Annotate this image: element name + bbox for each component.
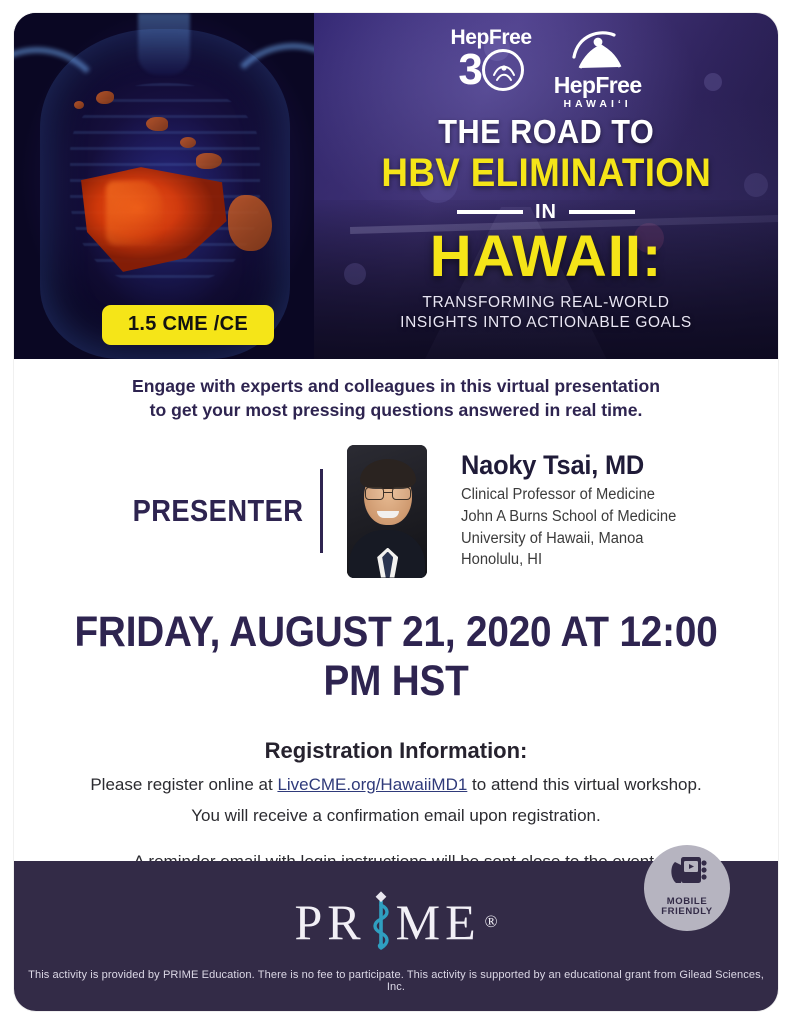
- logo-row: HepFree 3: [450, 27, 641, 111]
- title-connector-row: IN: [367, 201, 726, 224]
- hero-title-block: THE ROAD TO HBV ELIMINATION IN HAWAII: T…: [367, 115, 726, 333]
- presenter-section: PRESENTER Naoky Tsai, MD Clin: [14, 445, 778, 578]
- title-rule-left: [457, 210, 523, 214]
- title-line-hbv-elimination: HBV ELIMINATION: [381, 152, 711, 194]
- hepfree-hawaii-wordmark: HepFree: [554, 74, 642, 97]
- registered-trademark-symbol: ®: [485, 912, 498, 932]
- presenter-headshot: [347, 445, 427, 578]
- subtitle-line-2: INSIGHTS INTO ACTIONABLE GOALS: [367, 313, 726, 333]
- cme-credit-badge: 1.5 CME /CE: [102, 305, 274, 345]
- affiliation-line: John A Burns School of Medicine: [461, 506, 676, 528]
- glasses-lens-right: [392, 487, 411, 500]
- hepfree30-logo: HepFree 3: [450, 27, 531, 91]
- title-connector-in: IN: [535, 201, 557, 224]
- hepfree-hawaii-subtext: HAWAIʻI: [563, 98, 631, 110]
- registration-link[interactable]: LiveCME.org/HawaiiMD1: [277, 775, 467, 794]
- registration-line-1: Please register online at LiveCME.org/Ha…: [14, 775, 778, 795]
- registration-line-2: You will receive a confirmation email up…: [14, 806, 778, 826]
- main-content: Engage with experts and colleagues in th…: [14, 359, 778, 861]
- person-figure-icon: [482, 49, 524, 91]
- presenter-name: Naoky Tsai, MD: [461, 451, 674, 479]
- event-flyer: 1.5 CME /CE HepFree 3: [14, 13, 778, 1011]
- presenter-affiliation: Clinical Professor of Medicine John A Bu…: [461, 484, 676, 571]
- hero-content: HepFree 3: [314, 13, 778, 359]
- engage-callout: Engage with experts and colleagues in th…: [14, 375, 778, 423]
- title-line-road: THE ROAD TO: [379, 115, 712, 149]
- affiliation-line: University of Hawaii, Manoa: [461, 528, 676, 550]
- glasses-bridge: [384, 492, 392, 494]
- glasses-lens-left: [365, 487, 384, 500]
- footer: PR ME ®: [14, 861, 778, 1011]
- xray-neck-shape: [138, 13, 190, 75]
- hand-holding-phone-icon: [665, 856, 709, 899]
- prime-logo: PR ME ®: [294, 891, 497, 953]
- affiliation-line: Honolulu, HI: [461, 549, 676, 571]
- engage-line-1: Engage with experts and colleagues in th…: [54, 375, 738, 399]
- event-date-time: FRIDAY, AUGUST 21, 2020 AT 12:00 PM HST: [52, 608, 740, 706]
- register-text-before: Please register online at: [90, 775, 277, 794]
- footer-disclaimer: This activity is provided by PRIME Educa…: [25, 969, 766, 993]
- mobile-friendly-badge: MOBILE FRIENDLY: [644, 845, 730, 931]
- register-text-after: to attend this virtual workshop.: [467, 775, 701, 794]
- hawaii-island-shape: [146, 117, 168, 131]
- presenter-divider: [320, 469, 323, 553]
- title-line-hawaii: HAWAII:: [367, 228, 726, 286]
- headshot-smile: [377, 511, 399, 518]
- person-figure-icon: [568, 27, 628, 74]
- hepfree30-number: 3: [458, 49, 523, 91]
- affiliation-line: Clinical Professor of Medicine: [461, 484, 676, 506]
- hepfree30-digit-three: 3: [458, 50, 480, 90]
- title-subtitle: TRANSFORMING REAL-WORLD INSIGHTS INTO AC…: [367, 293, 726, 333]
- presenter-info: Naoky Tsai, MD Clinical Professor of Med…: [461, 451, 688, 571]
- xray-liver-inner-glow: [106, 181, 162, 245]
- headshot-glasses: [365, 487, 411, 500]
- engage-line-2: to get your most pressing questions answ…: [54, 399, 738, 423]
- hawaii-island-shape: [96, 91, 114, 104]
- mobile-friendly-label: MOBILE FRIENDLY: [661, 897, 712, 918]
- caduceus-icon: [368, 891, 394, 953]
- hawaii-island-shape: [74, 101, 84, 109]
- hero-banner: 1.5 CME /CE HepFree 3: [14, 13, 778, 359]
- mobile-friendly-line-2: FRIENDLY: [661, 906, 712, 917]
- presenter-label: PRESENTER: [132, 493, 304, 529]
- hepfree-hawaii-logo: HepFree HAWAIʻI: [554, 27, 642, 110]
- subtitle-line-1: TRANSFORMING REAL-WORLD: [367, 293, 726, 313]
- prime-wordmark-part2: ME: [396, 893, 481, 951]
- registration-heading: Registration Information:: [14, 738, 778, 764]
- prime-wordmark-part1: PR: [294, 893, 365, 951]
- title-rule-right: [569, 210, 635, 214]
- hawaii-island-shape: [180, 137, 196, 148]
